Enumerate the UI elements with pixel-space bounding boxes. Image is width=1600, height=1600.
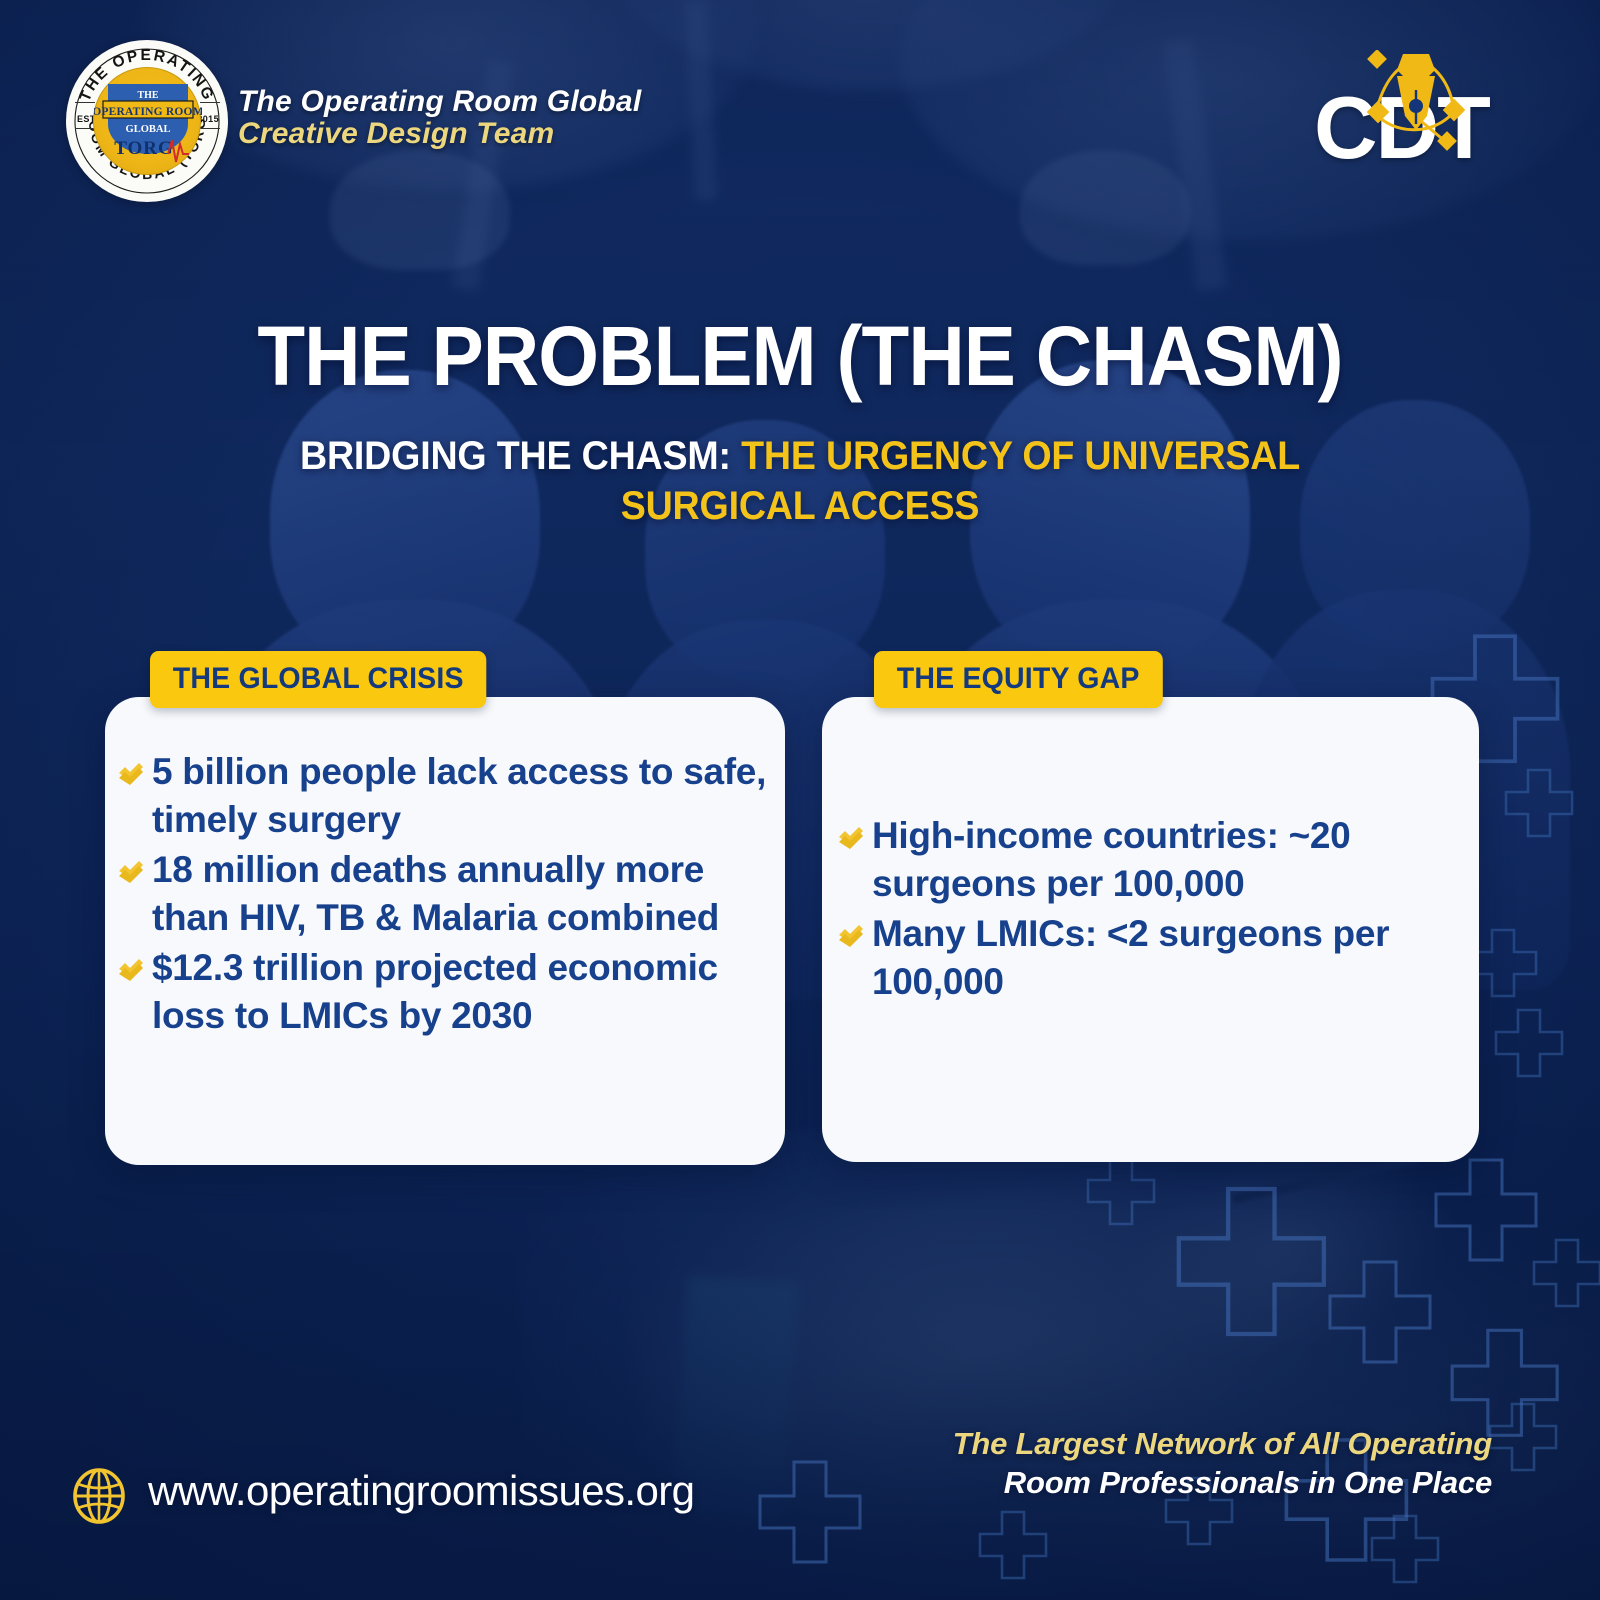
logo-tick-right-bottom bbox=[200, 128, 220, 129]
list-item: $12.3 trillion projected economic loss t… bbox=[118, 944, 786, 1040]
list-item: 5 billion people lack access to safe, ti… bbox=[118, 748, 786, 844]
bullet-list-global-crisis: 5 billion people lack access to safe, ti… bbox=[118, 748, 786, 1043]
infographic-poster: THE OPERATING ROOM GLOBAL (TORG) WWW.OPE… bbox=[0, 0, 1600, 1600]
logo-inner-art: THE OPERATING ROOM GLOBAL TORG bbox=[94, 68, 202, 176]
list-item: Many LMICs: <2 surgeons per 100,000 bbox=[838, 910, 1488, 1006]
list-item-text: $12.3 trillion projected economic loss t… bbox=[152, 947, 718, 1036]
double-chevron-check-icon bbox=[118, 861, 144, 883]
list-item: 18 million deaths annually more than HIV… bbox=[118, 846, 786, 942]
header: THE OPERATING ROOM GLOBAL (TORG) WWW.OPE… bbox=[0, 0, 1600, 210]
cdt-logo: CDT bbox=[1314, 52, 1494, 172]
logo-inner-line2: OPERATING ROOM bbox=[94, 106, 202, 118]
logo-inner-line1: THE bbox=[137, 90, 158, 101]
bullet-list-equity-gap: High-income countries: ~20 surgeons per … bbox=[838, 812, 1488, 1008]
double-chevron-check-icon bbox=[118, 959, 144, 981]
list-item-text: Many LMICs: <2 surgeons per 100,000 bbox=[872, 913, 1389, 1002]
double-chevron-check-icon bbox=[838, 827, 864, 849]
website-url[interactable]: www.operatingroomissues.org bbox=[148, 1467, 694, 1515]
page-title: THE PROBLEM (THE CHASM) bbox=[56, 308, 1544, 405]
double-chevron-check-icon bbox=[118, 763, 144, 785]
logo-tick-right-top bbox=[200, 102, 220, 103]
list-item: High-income countries: ~20 surgeons per … bbox=[838, 812, 1488, 908]
badge-equity-gap: THE EQUITY GAP bbox=[874, 651, 1162, 708]
logo-tick-left-bottom bbox=[75, 128, 95, 129]
list-item-text: 5 billion people lack access to safe, ti… bbox=[152, 751, 766, 840]
tagline-line-2: Room Professionals in One Place bbox=[872, 1463, 1492, 1502]
brand-line-2: Creative Design Team bbox=[238, 118, 641, 150]
logo-tick-left-top bbox=[75, 102, 95, 103]
subtitle-white-part: BRIDGING THE CHASM: bbox=[300, 434, 741, 478]
brand-text: The Operating Room Global Creative Desig… bbox=[238, 86, 641, 151]
logo-inner-disc: THE OPERATING ROOM GLOBAL TORG bbox=[93, 67, 201, 175]
page-subtitle: BRIDGING THE CHASM: THE URGENCY OF UNIVE… bbox=[255, 432, 1345, 531]
list-item-text: High-income countries: ~20 surgeons per … bbox=[872, 815, 1350, 904]
pen-nib-icon bbox=[1358, 50, 1474, 158]
logo-inner-line4: TORG bbox=[114, 138, 174, 159]
tagline-line-1: The Largest Network of All Operating bbox=[872, 1424, 1492, 1463]
badge-global-crisis: THE GLOBAL CRISIS bbox=[150, 651, 486, 708]
globe-icon bbox=[72, 1468, 126, 1524]
logo-inner-line3: GLOBAL bbox=[126, 124, 171, 135]
list-item-text: 18 million deaths annually more than HIV… bbox=[152, 849, 719, 938]
torg-seal-logo: THE OPERATING ROOM GLOBAL (TORG) WWW.OPE… bbox=[66, 40, 228, 202]
brand-line-1: The Operating Room Global bbox=[238, 86, 641, 118]
footer-tagline: The Largest Network of All Operating Roo… bbox=[872, 1424, 1492, 1502]
double-chevron-check-icon bbox=[838, 925, 864, 947]
